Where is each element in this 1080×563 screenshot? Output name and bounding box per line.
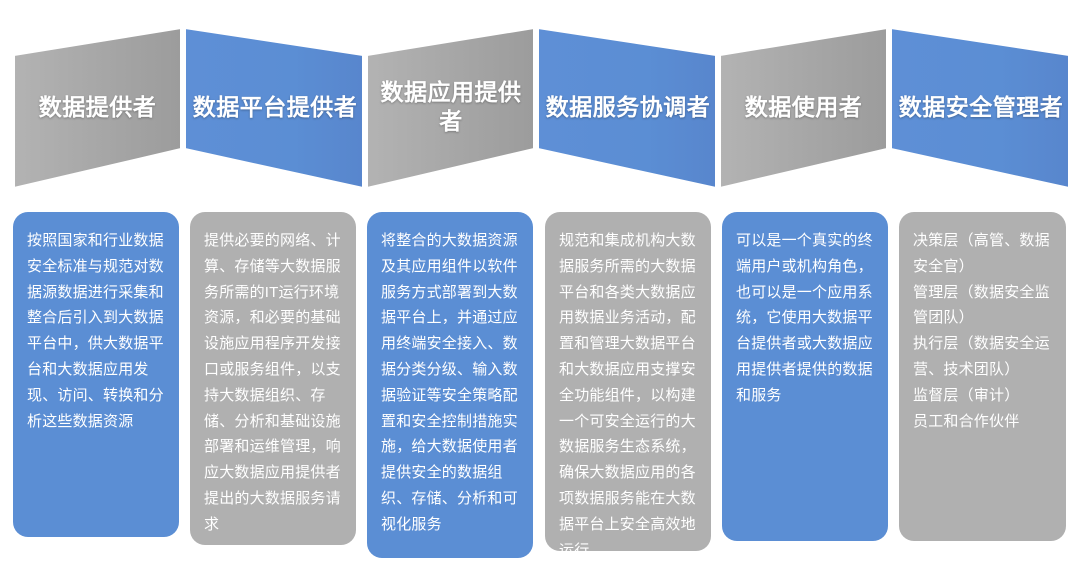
role-chevron-band: 数据提供者 数据平台提供者 数据应用提供者 数据服务协调者 数据使用者 数据安全… — [0, 0, 1080, 210]
card-data-consumer[interactable]: 可以是一个真实的终端用户或机构角色，也可以是一个应用系统，它使用大数据平台提供者… — [722, 212, 888, 541]
chevron-shapes — [0, 0, 1080, 210]
card-line-decision-layer: 决策层（高管、数据安全官） — [913, 228, 1052, 280]
chevron-panel-data-service-coordinator[interactable] — [538, 28, 716, 188]
card-line-execution-layer: 执行层（数据安全运营、技术团队） — [913, 331, 1052, 383]
card-text-data-application-provider: 将整合的大数据资源及其应用组件以软件服务方式部署到大数据平台上，并通过应用终端安… — [381, 228, 519, 538]
card-text-data-provider: 按照国家和行业数据安全标准与规范对数据源数据进行采集和整合后引入到大数据平台中，… — [27, 228, 165, 434]
card-data-application-provider[interactable]: 将整合的大数据资源及其应用组件以软件服务方式部署到大数据平台上，并通过应用终端安… — [367, 212, 533, 558]
chevron-panel-data-platform-provider[interactable] — [185, 28, 363, 188]
card-text-data-platform-provider: 提供必要的网络、计算、存储等大数据服务所需的IT运行环境资源，和必要的基础设施应… — [204, 228, 342, 538]
card-line-supervision-layer: 监督层（审计） — [913, 383, 1052, 409]
card-text-data-service-coordinator: 规范和集成机构大数据服务所需的大数据平台和各类大数据应用数据业务活动，配置和管理… — [559, 228, 697, 551]
card-data-provider[interactable]: 按照国家和行业数据安全标准与规范对数据源数据进行采集和整合后引入到大数据平台中，… — [13, 212, 179, 537]
card-line-staff-partners: 员工和合作伙伴 — [913, 409, 1052, 435]
card-line-management-layer: 管理层（数据安全监管团队） — [913, 280, 1052, 332]
chevron-panel-data-application-provider[interactable] — [367, 28, 534, 188]
card-data-platform-provider[interactable]: 提供必要的网络、计算、存储等大数据服务所需的IT运行环境资源，和必要的基础设施应… — [190, 212, 356, 545]
diagram-canvas: 数据提供者 数据平台提供者 数据应用提供者 数据服务协调者 数据使用者 数据安全… — [0, 0, 1080, 563]
chevron-panel-data-security-manager[interactable] — [891, 28, 1069, 188]
card-text-data-consumer: 可以是一个真实的终端用户或机构角色，也可以是一个应用系统，它使用大数据平台提供者… — [736, 228, 874, 409]
chevron-panel-data-provider[interactable] — [14, 28, 181, 188]
card-data-service-coordinator[interactable]: 规范和集成机构大数据服务所需的大数据平台和各类大数据应用数据业务活动，配置和管理… — [545, 212, 711, 551]
role-description-cards: 按照国家和行业数据安全标准与规范对数据源数据进行采集和整合后引入到大数据平台中，… — [0, 212, 1080, 563]
card-data-security-manager[interactable]: 决策层（高管、数据安全官） 管理层（数据安全监管团队） 执行层（数据安全运营、技… — [899, 212, 1066, 541]
chevron-panel-data-consumer[interactable] — [720, 28, 887, 188]
